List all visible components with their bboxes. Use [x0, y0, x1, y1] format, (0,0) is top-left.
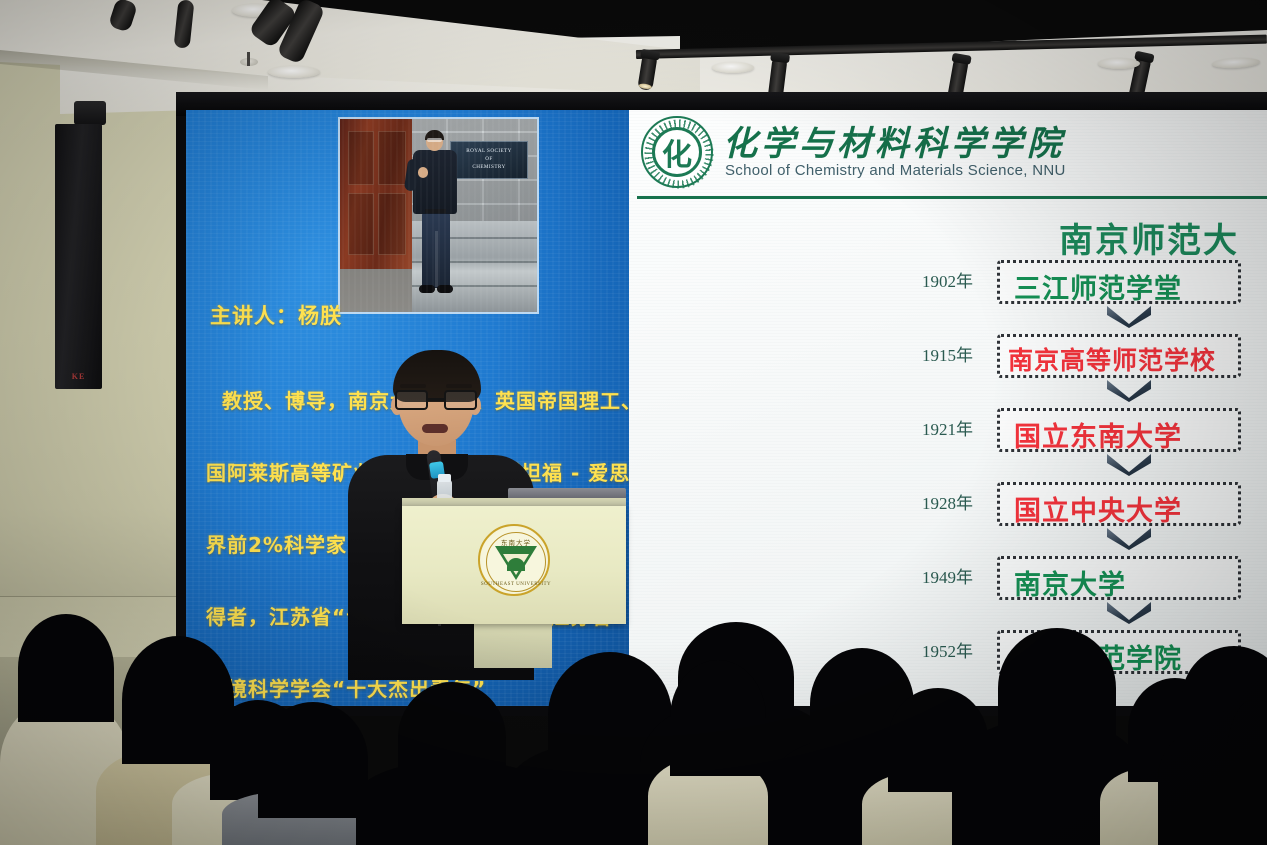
audience-head — [18, 614, 114, 722]
plaque-line-2: OF — [451, 155, 527, 163]
audience-head — [670, 660, 766, 776]
chevron-down-icon — [1107, 380, 1151, 402]
timeline-row: 1928年 国立中央大学 — [629, 480, 1267, 528]
chevron-down-icon — [1107, 306, 1151, 328]
presenter-mouth — [422, 424, 448, 433]
presenter-eyebrow — [446, 384, 472, 388]
photo-person-hand — [418, 167, 428, 178]
audience-head — [398, 682, 506, 794]
ceiling-light-icon — [1098, 58, 1140, 69]
timeline-box: 三江师范学堂 — [997, 260, 1241, 304]
plaque-line-3: CHEMISTRY — [451, 163, 527, 171]
spotlight-cap — [770, 52, 790, 63]
timeline-box: 国立东南大学 — [997, 408, 1241, 452]
timeline-name: 南京大学 — [1014, 563, 1126, 602]
door-panel — [378, 131, 406, 185]
timeline-year: 1928年 — [883, 480, 973, 528]
speaker-portrait-photo: ROYAL SOCIETY OF CHEMISTRY — [338, 117, 539, 314]
timeline-year: 1921年 — [883, 406, 973, 454]
chevron-down-icon — [1107, 454, 1151, 476]
timeline-name: 国立东南大学 — [1014, 415, 1182, 454]
slide-speaker-title: 主讲人：杨朕 — [210, 300, 629, 330]
nnu-chemistry-seal-icon: 化 — [641, 116, 713, 188]
glasses-lens — [395, 390, 428, 410]
emblem-gate — [507, 558, 525, 571]
timeline-year: 1915年 — [883, 332, 973, 380]
photo-person-glasses — [427, 138, 442, 142]
timeline-row: 1921年 国立东南大学 — [629, 406, 1267, 454]
podium-base — [474, 624, 552, 668]
school-name-en: School of Chemistry and Materials Scienc… — [725, 162, 1066, 179]
southeast-university-emblem-icon: 东南大学 SOUTHEAST UNIVERSITY — [478, 524, 550, 596]
timeline-box: 南京大学 — [997, 556, 1241, 600]
presenter-eyebrow — [400, 384, 426, 388]
timeline-year: 1949年 — [883, 554, 973, 602]
door-panel — [348, 131, 374, 185]
royal-society-plaque: ROYAL SOCIETY OF CHEMISTRY — [450, 141, 528, 179]
slide-main-title: 南京师范大 — [1059, 213, 1239, 262]
pendant-stem-icon — [247, 52, 250, 66]
photo-door — [340, 119, 412, 269]
audience-body — [1226, 700, 1267, 845]
seal-glyph: 化 — [652, 127, 702, 177]
timeline-row: 1915年 南京高等师范学校 — [629, 332, 1267, 380]
chevron-down-icon — [1107, 528, 1151, 550]
spotlight-cap — [640, 49, 660, 61]
photo-person-shoe — [419, 285, 435, 293]
plaque-line-1: ROYAL SOCIETY — [451, 147, 527, 155]
speaker-brand-label: KE — [55, 372, 102, 381]
header-divider — [637, 196, 1267, 199]
timeline-box: 国立中央大学 — [997, 482, 1241, 526]
emblem-text-en: SOUTHEAST UNIVERSITY — [480, 582, 552, 587]
glasses-bridge — [428, 398, 444, 401]
chevron-down-icon — [1107, 602, 1151, 624]
door-panel — [348, 193, 374, 255]
slide-header: 化 化学与材料科学学院 School of Chemistry and Mate… — [637, 110, 1267, 196]
audience-head — [998, 628, 1116, 748]
ceiling-light-icon — [712, 62, 754, 73]
photo-leg-gap — [435, 231, 438, 287]
spotlight-cap — [951, 53, 971, 65]
timeline-box: 南京高等师范学校 — [997, 334, 1241, 378]
wall-speaker: KE — [55, 124, 102, 389]
timeline-name: 三江师范学堂 — [1014, 267, 1182, 306]
door-panel — [378, 193, 406, 255]
bottle-cap — [438, 474, 451, 482]
speaker-bracket — [74, 101, 106, 125]
right-projection-slide: 化 化学与材料科学学院 School of Chemistry and Mate… — [629, 110, 1267, 706]
timeline-row: 1902年 三江师范学堂 — [629, 258, 1267, 306]
eyeglasses-icon — [395, 390, 477, 410]
audience-head — [258, 702, 368, 818]
lecture-hall-photo: KE ROYAL SOCIETY OF CHEMISTRY — [0, 0, 1267, 845]
timeline-name: 南京高等师范学校 — [1008, 341, 1216, 377]
glasses-lens — [444, 390, 477, 410]
photo-person-shoe — [437, 285, 453, 293]
timeline-year: 1902年 — [883, 258, 973, 306]
photo-person-belt — [425, 209, 446, 213]
photo-person-jacket — [413, 150, 457, 214]
school-name-cn: 化学与材料科学学院 — [723, 116, 1065, 165]
ceiling-light-icon — [268, 66, 320, 78]
timeline-name: 国立中央大学 — [1014, 489, 1182, 528]
timeline-row: 1949年 南京大学 — [629, 554, 1267, 602]
